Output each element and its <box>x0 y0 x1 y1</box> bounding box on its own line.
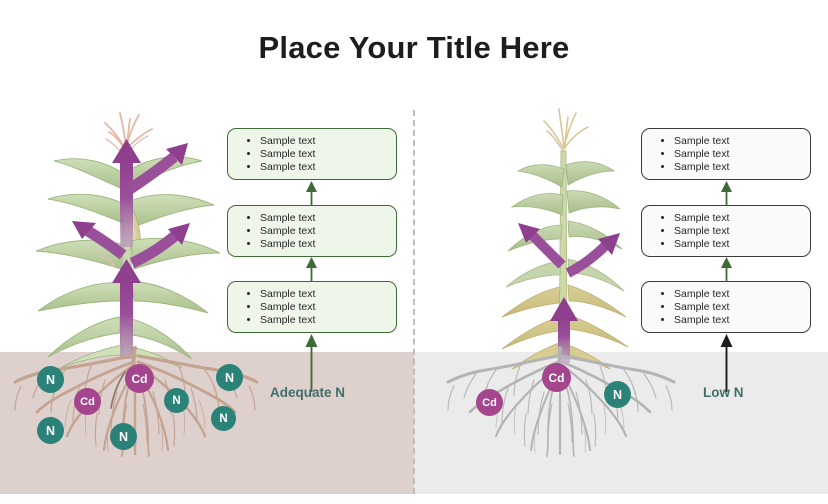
nitrogen-chip: N <box>164 388 189 413</box>
list-item: Sample text <box>674 225 802 238</box>
callout-box-low-top[interactable]: Sample text Sample text Sample text <box>641 128 811 180</box>
translocation-arrow-icon <box>72 139 190 359</box>
arrow-up-icon <box>304 334 319 392</box>
arrow-up-icon <box>720 257 733 283</box>
list-item: Sample text <box>674 135 802 148</box>
nitrogen-chip: N <box>37 366 64 393</box>
nitrogen-chip: N <box>37 417 64 444</box>
maize-plant-healthy-icon <box>10 105 240 380</box>
list-item: Sample text <box>674 301 802 314</box>
list-item: Sample text <box>260 238 388 251</box>
list-item: Sample text <box>260 301 388 314</box>
list-item: Sample text <box>674 161 802 174</box>
list-item: Sample text <box>260 314 388 327</box>
arrow-up-icon <box>720 181 733 207</box>
condition-label-adequate-n: Adequate N <box>270 385 345 400</box>
list-item: Sample text <box>674 314 802 327</box>
page-title: Place Your Title Here <box>0 30 828 66</box>
list-item: Sample text <box>260 148 388 161</box>
arrow-up-icon <box>719 334 734 392</box>
arrow-up-icon <box>305 257 318 283</box>
maize-plant-deficient-icon <box>480 105 660 380</box>
callout-box-adequate-bottom[interactable]: Sample text Sample text Sample text <box>227 281 397 333</box>
list-item: Sample text <box>674 212 802 225</box>
diagram-canvas: Place Your Title Here <box>0 0 828 504</box>
callout-box-adequate-top[interactable]: Sample text Sample text Sample text <box>227 128 397 180</box>
callout-box-adequate-middle[interactable]: Sample text Sample text Sample text <box>227 205 397 257</box>
list-item: Sample text <box>260 161 388 174</box>
list-item: Sample text <box>674 148 802 161</box>
cadmium-chip: Cd <box>125 364 154 393</box>
cadmium-chip: Cd <box>476 389 503 416</box>
soil-band-low-n <box>414 352 828 494</box>
list-item: Sample text <box>260 288 388 301</box>
list-item: Sample text <box>260 212 388 225</box>
nitrogen-chip: N <box>604 381 631 408</box>
nitrogen-chip: N <box>110 423 137 450</box>
nitrogen-chip: N <box>216 364 243 391</box>
translocation-arrow-icon <box>518 223 620 363</box>
list-item: Sample text <box>260 225 388 238</box>
nitrogen-chip: N <box>211 406 236 431</box>
panel-divider <box>413 110 415 494</box>
cadmium-chip: Cd <box>542 363 571 392</box>
arrow-up-icon <box>305 181 318 207</box>
list-item: Sample text <box>260 135 388 148</box>
callout-box-low-middle[interactable]: Sample text Sample text Sample text <box>641 205 811 257</box>
callout-box-low-bottom[interactable]: Sample text Sample text Sample text <box>641 281 811 333</box>
list-item: Sample text <box>674 238 802 251</box>
condition-label-low-n: Low N <box>703 385 744 400</box>
cadmium-chip: Cd <box>74 388 101 415</box>
list-item: Sample text <box>674 288 802 301</box>
